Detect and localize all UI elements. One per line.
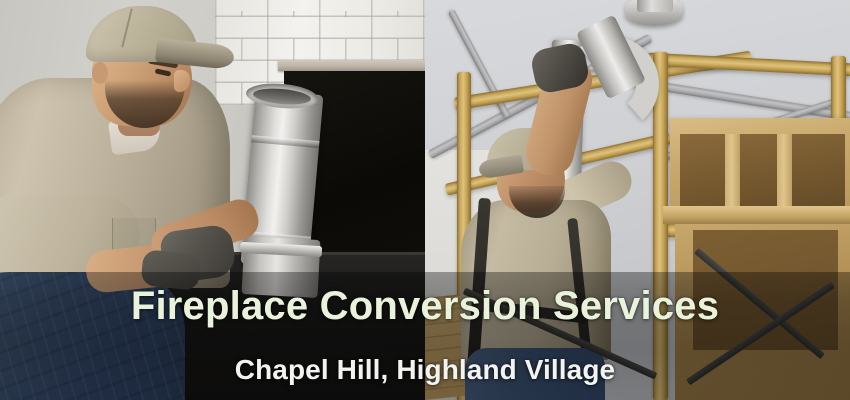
- service-banner: Fireplace Conversion Services Chapel Hil…: [0, 0, 850, 400]
- chase-sill: [663, 206, 850, 224]
- chase-interior: [680, 134, 845, 206]
- chase-stud: [725, 134, 740, 206]
- chase-stud: [777, 134, 792, 206]
- location-subtitle: Chapel Hill, Highland Village: [0, 356, 850, 384]
- page-title: Fireplace Conversion Services: [0, 286, 850, 326]
- chimney-flue-top: [637, 0, 673, 12]
- pipe-seam-ring: [251, 135, 319, 148]
- fireplace-lintel: [278, 60, 425, 71]
